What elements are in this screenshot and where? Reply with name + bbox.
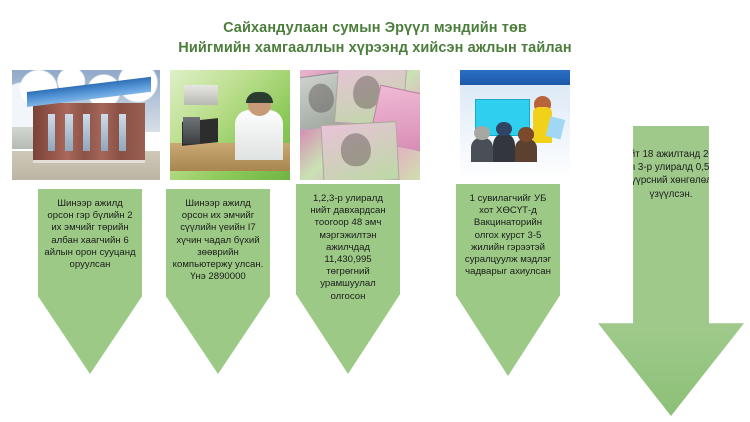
banknotes-illustration [300,70,420,180]
window [101,114,108,151]
training-illustration [460,70,570,180]
clinic-building-photo [12,70,160,180]
arrow-callout-4: 1 сувилагчийг УБ хот ХӨСҮТ-д Вакцинатори… [456,184,560,376]
doctor-coat [235,110,283,161]
presentation-slide: Сайхандулаан сумын Эрүүл мэндийн төв Ний… [0,0,750,422]
audience-head [518,127,533,141]
window [48,114,55,151]
audience-head [496,122,511,136]
arrow-callout-2-text: Шинээр ажилд орсон их эмчийг сүүлийн үеи… [166,189,270,283]
banknotes-photo [300,70,420,180]
portrait [339,132,370,167]
arrow-callout-5: Нийт 18 ажилтанд 2023 оны 3-р улиралд 0,… [598,126,744,416]
portrait [307,82,336,115]
training-clipart-photo [460,70,570,180]
arrow-callout-3: 1,2,3-р улиралд нийт давхардсан тоогоор … [296,184,400,374]
title-line-1: Сайхандулаан сумын Эрүүл мэндийн төв [0,18,750,38]
audience-member [515,139,537,162]
arrow-callout-2: Шинээр ажилд орсон их эмчийг сүүлийн үеи… [166,189,270,374]
top-blue-band [460,70,570,85]
audience-member [493,134,515,163]
audience-head [474,126,489,140]
doctor-laptop-photo [170,70,290,180]
banknote [320,121,399,180]
window [119,114,126,151]
doctor-laptop-illustration [170,70,290,180]
arrow-callout-3-text: 1,2,3-р улиралд нийт давхардсан тоогоор … [296,184,400,303]
laptop-screen [183,117,200,143]
clinic-building-illustration [12,70,160,180]
audience-member [471,138,493,162]
window [83,114,90,151]
printer [184,85,218,105]
doctor-cap [246,92,274,103]
window [65,114,72,151]
title-line-2: Нийгмийн хамгааллын хүрээнд хийсэн ажлын… [0,38,750,58]
arrow-callout-1-text: Шинээр ажилд орсон гэр бүлийн 2 их эмчий… [38,189,142,271]
arrow-callout-5-text: Нийт 18 ажилтанд 2023 оны 3-р улиралд 0,… [616,148,726,201]
page-title: Сайхандулаан сумын Эрүүл мэндийн төв Ний… [0,18,750,58]
arrow-callout-1: Шинээр ажилд орсон гэр бүлийн 2 их эмчий… [38,189,142,374]
arrow-callout-4-text: 1 сувилагчийг УБ хот ХӨСҮТ-д Вакцинатори… [456,184,560,278]
